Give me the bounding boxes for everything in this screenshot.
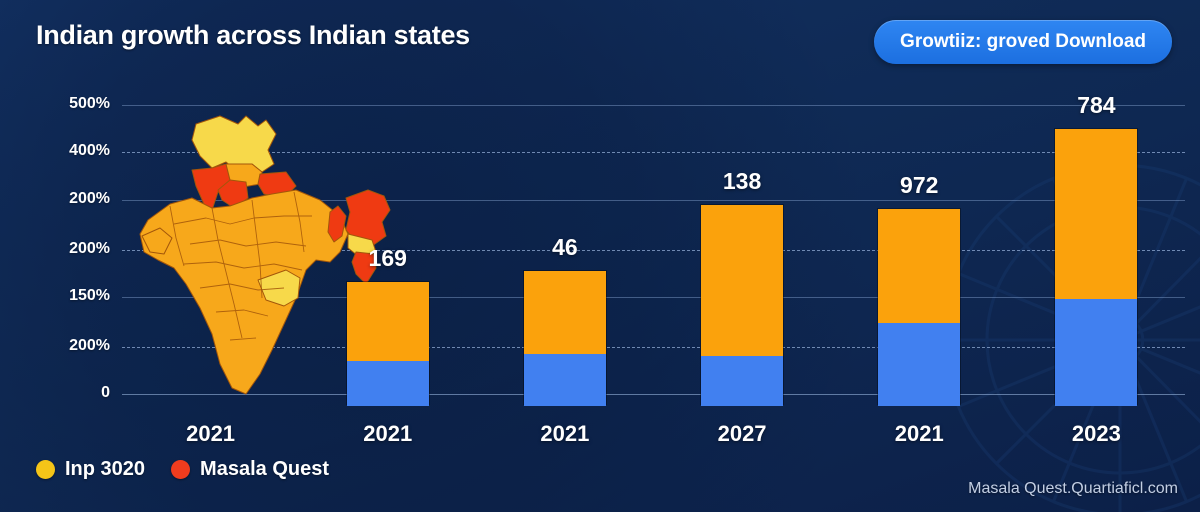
stacked-bar[interactable] — [1054, 128, 1138, 405]
x-axis-tick-label: 2021 — [540, 421, 589, 447]
stacked-bar[interactable] — [523, 270, 607, 405]
bar-value-label: 138 — [723, 168, 761, 195]
bar-column[interactable]: 1382027 — [654, 0, 831, 512]
y-axis-tick-label: 200% — [20, 190, 110, 208]
bar-value-label: 46 — [552, 234, 578, 261]
x-axis-tick-label: 2027 — [718, 421, 767, 447]
legend-swatch-icon — [36, 460, 55, 479]
bar-segment-bottom[interactable] — [1055, 299, 1137, 406]
x-axis-tick-label: 2023 — [1072, 421, 1121, 447]
chart-container: Indian growth across Indian states Growt… — [0, 0, 1200, 512]
bar-column[interactable]: 1692021 — [299, 0, 476, 512]
bar-segment-top[interactable] — [701, 205, 783, 356]
legend-label: Inp 3020 — [65, 458, 145, 481]
bar-column[interactable]: 9722021 — [831, 0, 1008, 512]
x-axis-tick-label: 2021 — [186, 421, 235, 447]
y-axis-tick-label: 0 — [20, 384, 110, 402]
x-axis-tick-label: 2021 — [895, 421, 944, 447]
bar-segment-top[interactable] — [524, 271, 606, 354]
bar-column[interactable]: 462021 — [476, 0, 653, 512]
bar-segment-top[interactable] — [347, 282, 429, 361]
stacked-bar[interactable] — [700, 204, 784, 405]
legend-item[interactable]: Masala Quest — [171, 458, 329, 481]
legend-item[interactable]: Inp 3020 — [36, 458, 145, 481]
bar-segment-bottom[interactable] — [347, 361, 429, 406]
y-axis-tick-label: 150% — [20, 287, 110, 305]
bar-value-label: 784 — [1077, 92, 1115, 119]
bar-value-label: 972 — [900, 172, 938, 199]
bar-segment-bottom[interactable] — [701, 356, 783, 406]
stacked-bar[interactable] — [877, 208, 961, 405]
plot-area: 500%400%200%200%150%200%0 — [0, 0, 1200, 512]
y-axis-tick-label: 200% — [20, 240, 110, 258]
bar-segment-top[interactable] — [1055, 129, 1137, 299]
bar-column[interactable]: 2021 — [122, 0, 299, 512]
stacked-bar[interactable] — [346, 281, 430, 405]
bar-column[interactable]: 7842023 — [1008, 0, 1185, 512]
footer-credit: Masala Quest.Quartiaficl.com — [968, 480, 1178, 498]
legend: Inp 3020Masala Quest — [36, 458, 329, 481]
x-axis-tick-label: 2021 — [363, 421, 412, 447]
bar-value-label: 169 — [369, 245, 407, 272]
y-axis-tick-label: 200% — [20, 337, 110, 355]
bar-segment-top[interactable] — [878, 209, 960, 323]
bar-segment-bottom[interactable] — [878, 323, 960, 406]
legend-swatch-icon — [171, 460, 190, 479]
bar-segment-bottom[interactable] — [524, 354, 606, 406]
y-axis-tick-label: 400% — [20, 142, 110, 160]
y-axis-tick-label: 500% — [20, 95, 110, 113]
legend-label: Masala Quest — [200, 458, 329, 481]
